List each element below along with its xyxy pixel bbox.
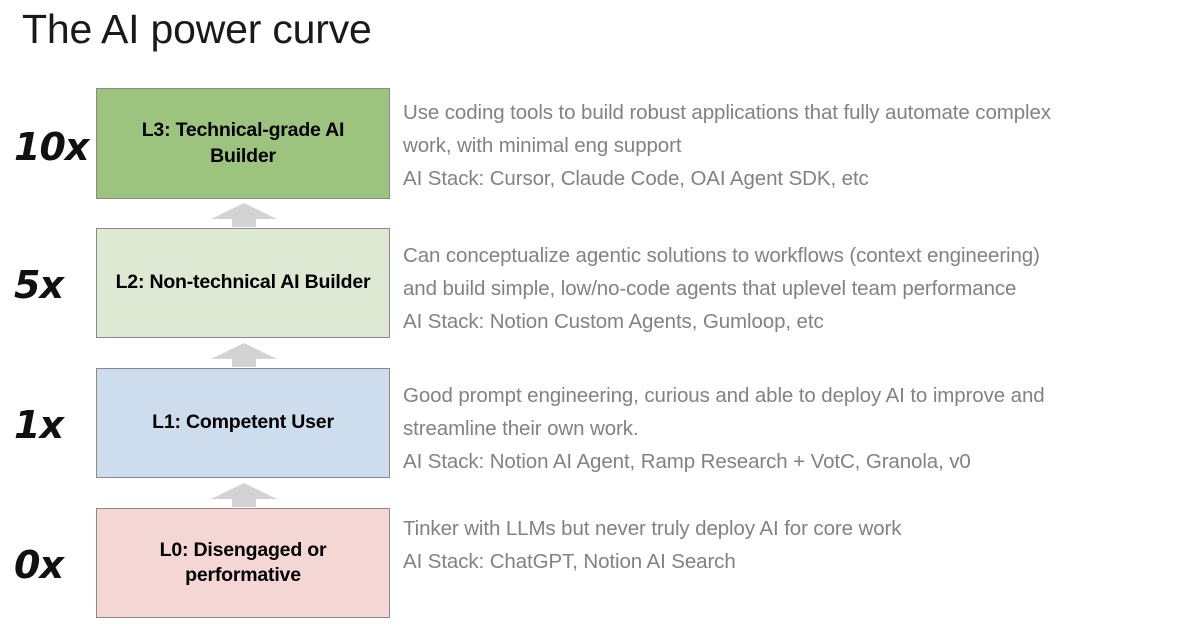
level-description-l2: Can conceptualize agentic solutions to w…	[403, 239, 1193, 338]
level-box-label-l1: L1: Competent User	[138, 410, 348, 435]
description-line: and build simple, low/no-code agents tha…	[403, 272, 1193, 305]
level-description-l0: Tinker with LLMs but never truly deploy …	[403, 512, 1193, 578]
up-arrow-icon	[211, 343, 277, 367]
description-line: AI Stack: Notion Custom Agents, Gumloop,…	[403, 305, 1193, 338]
description-line: Good prompt engineering, curious and abl…	[403, 379, 1193, 412]
level-box-l3[interactable]: L3: Technical-grade AI Builder	[96, 88, 390, 199]
multiplier-label-l1: 1x	[14, 403, 90, 447]
level-description-l3: Use coding tools to build robust applica…	[403, 96, 1193, 195]
description-line: Use coding tools to build robust applica…	[403, 96, 1193, 129]
level-box-label-l0: L0: Disengaged or performative	[97, 538, 389, 589]
up-arrow-icon	[211, 203, 277, 227]
level-box-l0[interactable]: L0: Disengaged or performative	[96, 508, 390, 618]
description-line: Tinker with LLMs but never truly deploy …	[403, 512, 1193, 545]
multiplier-label-l0: 0x	[14, 543, 90, 587]
description-line: Can conceptualize agentic solutions to w…	[403, 239, 1193, 272]
level-box-label-l3: L3: Technical-grade AI Builder	[97, 118, 389, 169]
description-line: AI Stack: ChatGPT, Notion AI Search	[403, 545, 1193, 578]
page-title: The AI power curve	[22, 6, 372, 53]
multiplier-label-l3: 10x	[14, 125, 90, 169]
description-line: work, with minimal eng support	[403, 129, 1193, 162]
level-box-label-l2: L2: Non-technical AI Builder	[102, 270, 385, 295]
arrow-l1-to-l2	[211, 341, 277, 367]
description-line: AI Stack: Cursor, Claude Code, OAI Agent…	[403, 162, 1193, 195]
description-line: streamline their own work.	[403, 412, 1193, 445]
arrow-l0-to-l1	[211, 481, 277, 507]
power-curve-slide: The AI power curve 10x L3: Technical-gra…	[0, 0, 1200, 629]
up-arrow-icon	[211, 483, 277, 507]
arrow-l2-to-l3	[211, 201, 277, 227]
level-box-l2[interactable]: L2: Non-technical AI Builder	[96, 228, 390, 338]
multiplier-label-l2: 5x	[14, 263, 90, 307]
level-description-l1: Good prompt engineering, curious and abl…	[403, 379, 1193, 478]
description-line: AI Stack: Notion AI Agent, Ramp Research…	[403, 445, 1193, 478]
level-box-l1[interactable]: L1: Competent User	[96, 368, 390, 478]
